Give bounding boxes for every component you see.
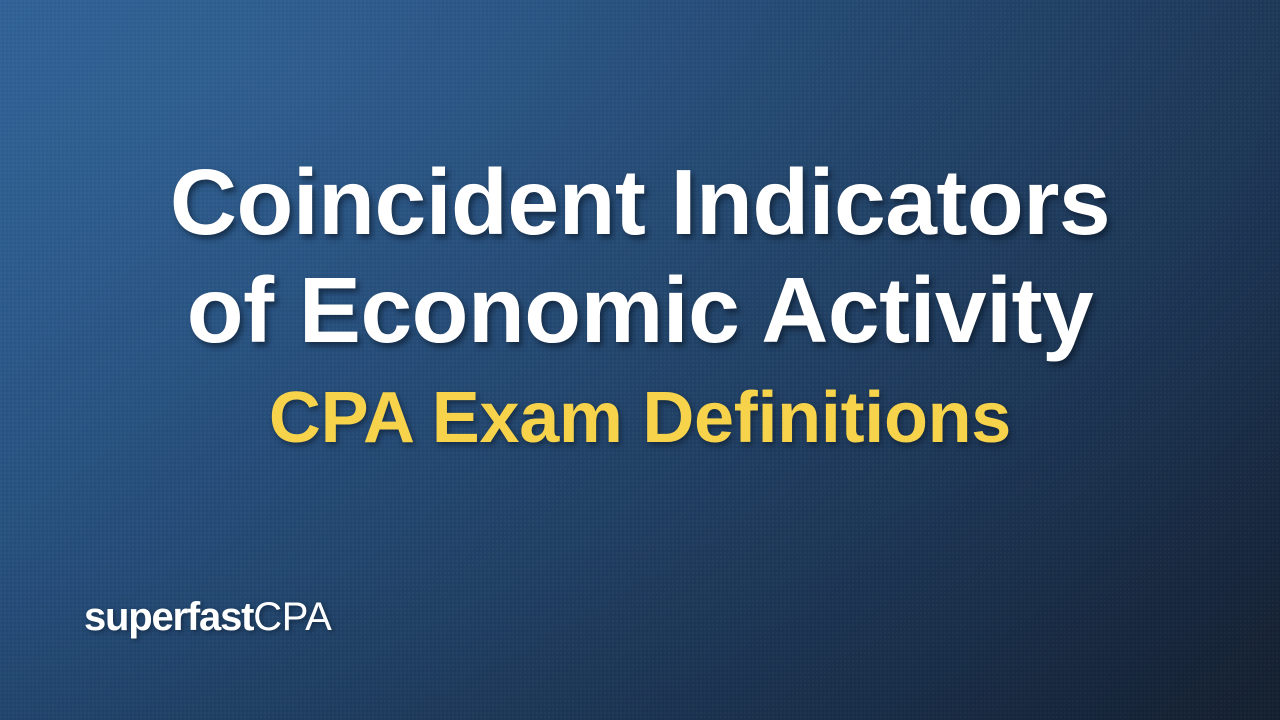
subtitle: CPA Exam Definitions xyxy=(48,366,1232,470)
title-block: Coincident Indicators of Economic Activi… xyxy=(0,148,1280,470)
title-line-2: of Economic Activity xyxy=(48,256,1232,364)
slide-content: Coincident Indicators of Economic Activi… xyxy=(0,0,1280,720)
title-slide: Coincident Indicators of Economic Activi… xyxy=(0,0,1280,720)
logo-text-light: CPA xyxy=(253,595,331,639)
title-line-1: Coincident Indicators xyxy=(48,148,1232,256)
superfastcpa-logo: superfastCPA xyxy=(84,595,331,640)
logo-text-bold: superfast xyxy=(84,595,253,639)
